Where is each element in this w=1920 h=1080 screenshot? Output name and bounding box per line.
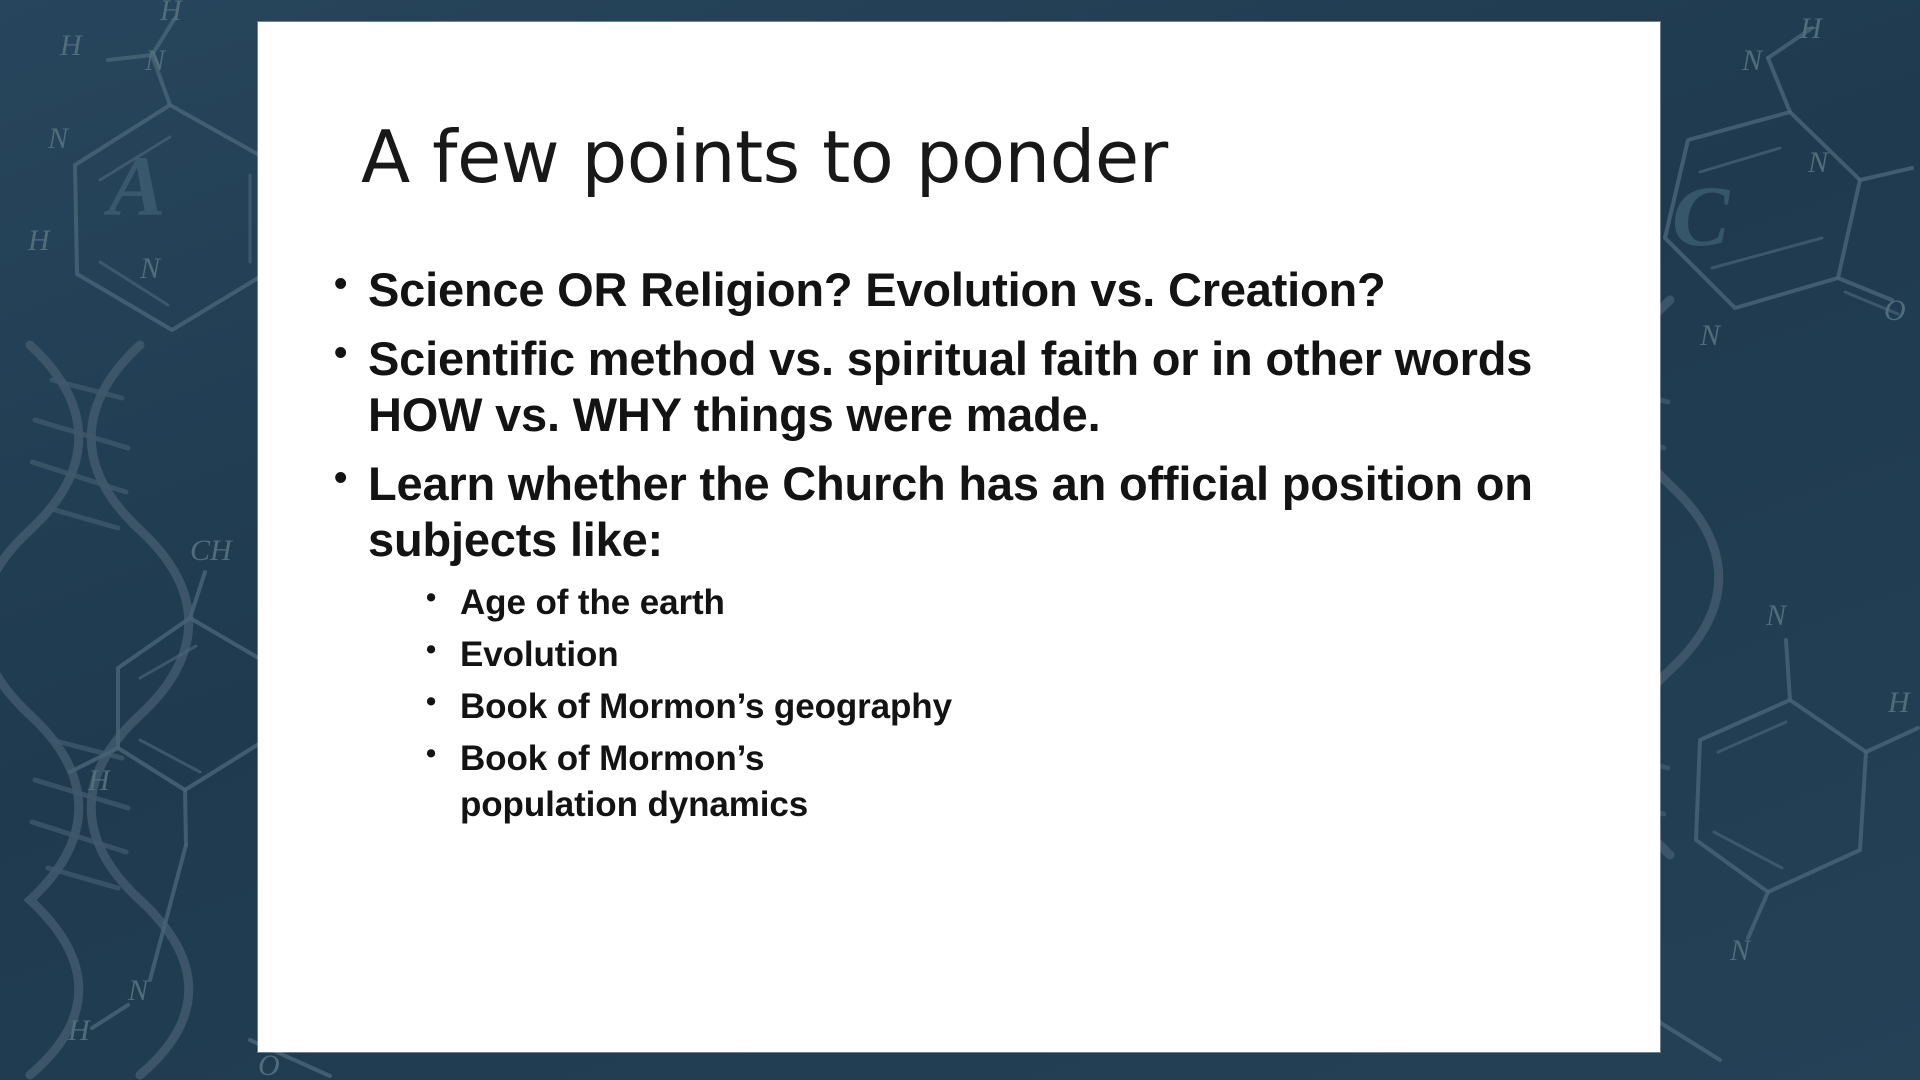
svg-text:A: A [103,138,165,234]
svg-text:N: N [1729,934,1752,967]
svg-text:N: N [144,44,167,77]
bullet-item-3: Learn whether the Church has an official… [318,456,1638,828]
svg-text:N: N [1807,146,1830,179]
sub-bullet-text: Book of Mormon’s [460,739,764,778]
svg-text:N: N [139,252,162,285]
benzene-ring-icon: CH H N H [67,534,262,1047]
bullet-text: Science OR Religion? Evolution vs. Creat… [368,263,1386,316]
sub-bullet-item-3: Book of Mormon’s geography [368,685,1638,730]
bullet-item-1: Science OR Religion? Evolution vs. Creat… [318,262,1638,317]
svg-text:O: O [1884,294,1906,327]
cytosine-ring-icon: N H N O C N [1665,12,1912,352]
bullet-text: Learn whether the Church has an official… [368,457,1533,565]
svg-text:H: H [67,1014,92,1047]
slide-background: N H H N H N A [0,0,1920,1080]
svg-text:H: H [87,764,112,797]
svg-text:N: N [47,122,70,155]
guanine-ring-icon: N H N [1696,599,1918,967]
svg-text:H: H [1799,12,1824,45]
sub-bullet-list: Age of the earth Evolution Book of Mormo… [368,581,1638,828]
svg-text:H: H [59,29,84,62]
slide-card: A few points to ponder Science OR Religi… [258,22,1660,1052]
slide-title: A few points to ponder [361,120,1601,195]
svg-text:N: N [1741,44,1764,77]
sub-bullet-text: Book of Mormon’s geography [460,687,952,726]
sub-bullet-text: Age of the earth [460,583,725,622]
bullet-item-2: Scientific method vs. spiritual faith or… [318,331,1638,442]
svg-text:C: C [1672,168,1731,264]
svg-text:H: H [1887,686,1912,719]
svg-text:N: N [127,974,150,1007]
sub-bullet-item-2: Evolution [368,633,1638,678]
sub-bullet-wrap-text: population dynamics [460,783,1638,828]
bullet-text: Scientific method vs. spiritual faith or… [368,332,1532,440]
svg-text:N: N [1699,319,1722,352]
svg-text:H: H [159,0,184,27]
sub-bullet-item-1: Age of the earth [368,581,1638,626]
svg-text:O: O [258,1049,280,1080]
bullet-list: Science OR Religion? Evolution vs. Creat… [318,262,1638,842]
svg-text:CH: CH [190,534,234,567]
sub-bullet-item-4: Book of Mormon’s population dynamics [368,737,1638,829]
sub-bullet-text: Evolution [460,635,619,674]
dna-helix-icon [0,345,189,1075]
svg-text:H: H [27,224,52,257]
slide-content: A few points to ponder Science OR Religi… [258,22,1660,1052]
svg-text:N: N [1765,599,1788,632]
